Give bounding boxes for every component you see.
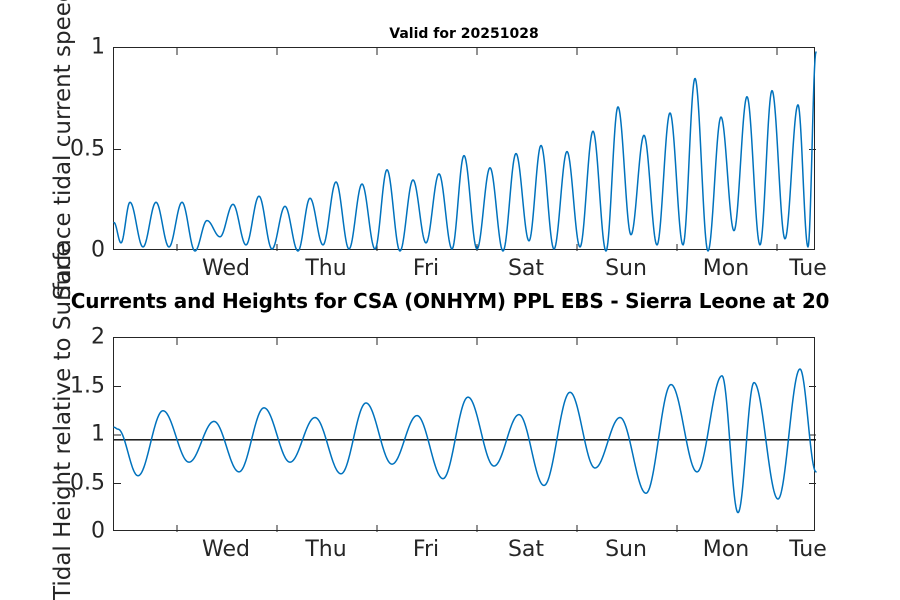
x-tick-label: Tue [789,537,827,562]
top-plot-canvas [113,47,817,252]
x-tick-label: Thu [305,537,346,562]
tidal-height-axes [113,337,815,531]
top-y-tick-labels: 00.51 [48,47,105,250]
bottom-plot-canvas [113,337,817,533]
x-tick-label: Mon [703,537,749,562]
top-x-tick-labels: WedThuFriSatSunMonTue [0,256,900,286]
bottom-x-tick-labels: WedThuFriSatSunMonTue [0,537,900,567]
y-tick-label: 2 [91,325,105,350]
y-tick-label: 1.5 [70,373,105,398]
page-title: Currents and Heights for CSA (ONHYM) PPL… [0,289,900,313]
x-tick-label: Sat [508,256,544,281]
x-tick-label: Thu [305,256,346,281]
x-tick-label: Tue [789,256,827,281]
bottom-y-tick-labels: 00.511.52 [48,337,105,531]
y-tick-label: 1 [91,35,105,60]
x-tick-label: Mon [703,256,749,281]
x-tick-label: Wed [202,537,250,562]
x-tick-label: Sun [605,256,647,281]
y-tick-label: 0.5 [70,136,105,161]
data-series-line [114,52,816,251]
x-tick-label: Fri [413,256,439,281]
y-tick-label: 0.5 [70,470,105,495]
x-tick-label: Sun [605,537,647,562]
surface-current-speed-axes [113,47,815,250]
chart-subtitle: Valid for 20251028 [113,26,815,42]
x-tick-label: Wed [202,256,250,281]
data-series-line [114,369,816,512]
x-tick-label: Sat [508,537,544,562]
y-tick-label: 1 [91,422,105,447]
x-tick-label: Fri [413,537,439,562]
tidal-figure: Valid for 20251028 Surface tidal current… [0,0,900,600]
